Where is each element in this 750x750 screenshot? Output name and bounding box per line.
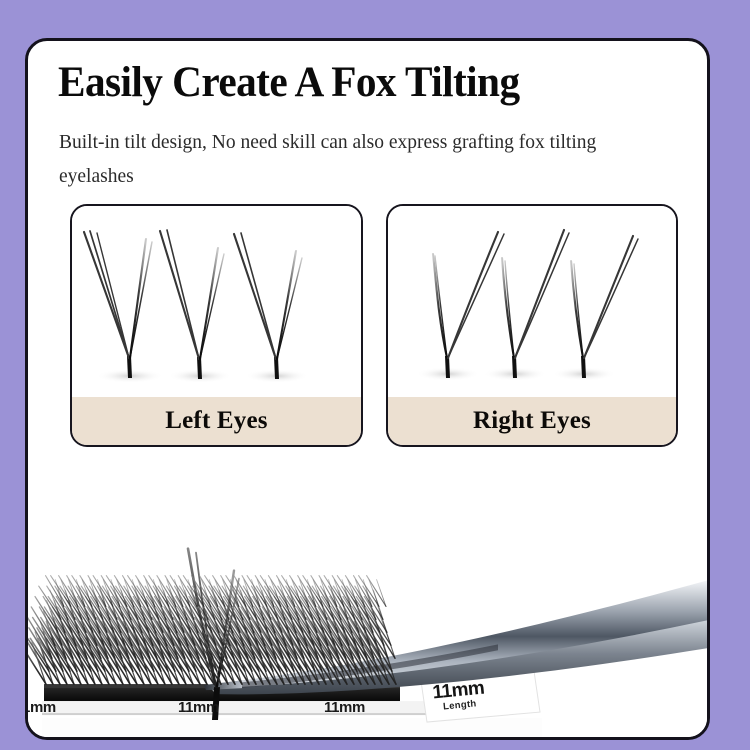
product-photo: 1mm 11mm 11mm 11mm Length [28,453,707,737]
lash-fan [160,230,232,383]
panel-right-eyes-label: Right Eyes [388,397,676,445]
left-eyes-lash-illustration [72,206,361,401]
lash-fan [416,232,504,381]
page-subtitle: Built-in tilt design, No need skill can … [59,126,659,193]
ruler-label: 11mm [324,699,365,716]
right-eyes-lash-illustration [388,206,676,401]
page-title: Easily Create A Fox Tilting [58,61,653,106]
panel-left-eyes-label: Left Eyes [72,397,361,445]
lash-fan [84,231,164,383]
length-tag-value: 11mm [432,679,485,703]
panel-right-eyes: Right Eyes [386,204,678,447]
lash-tray-texture [28,453,707,737]
lash-fan [234,233,309,383]
ruler-label: 11mm [178,699,219,716]
lash-fan [552,236,638,381]
panel-left-eyes: Left Eyes [70,204,363,447]
content-card: Easily Create A Fox Tilting Built-in til… [25,38,710,740]
ruler-label: 1mm [28,699,56,716]
product-infographic: Easily Create A Fox Tilting Built-in til… [0,0,750,750]
length-tag: 11mm Length [432,679,487,714]
